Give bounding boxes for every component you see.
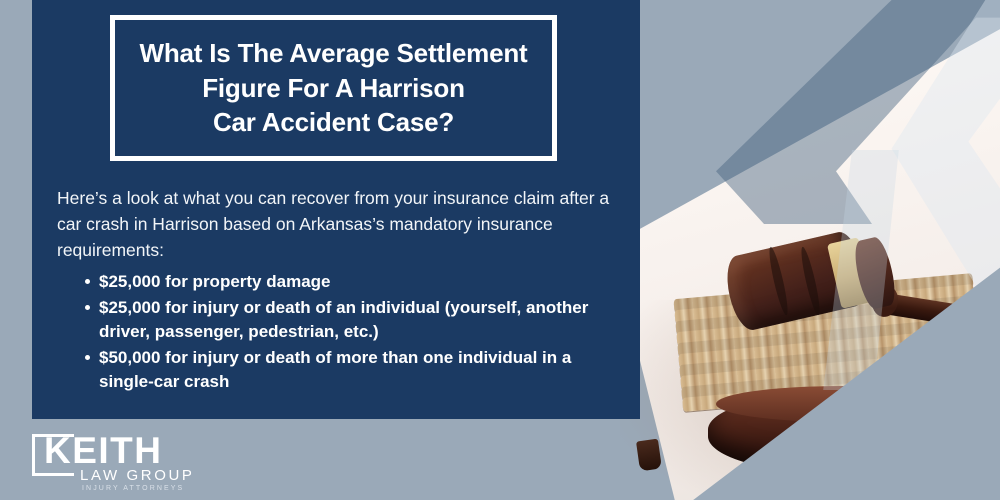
list-item: $25,000 for property damage — [87, 270, 619, 294]
keith-law-group-logo: KEITH LAW GROUP INJURY ATTORNEYS — [30, 432, 210, 490]
gavel-money-photo — [620, 0, 1000, 500]
list-item: $25,000 for injury or death of an indivi… — [87, 296, 619, 344]
title-line-2: Figure For A Harrison — [202, 71, 465, 106]
stand-leg — [636, 439, 662, 472]
navy-content-panel: What Is The Average Settlement Figure Fo… — [32, 0, 640, 419]
list-item-label: $50,000 for injury or death of more than… — [99, 348, 571, 391]
logo-subtitle: LAW GROUP — [80, 468, 195, 483]
coverage-list: $25,000 for property damage $25,000 for … — [57, 270, 627, 395]
list-item: $50,000 for injury or death of more than… — [87, 346, 619, 394]
page-title: What Is The Average Settlement Figure Fo… — [127, 31, 540, 145]
list-item-label: $25,000 for injury or death of an indivi… — [99, 298, 588, 341]
body-copy: Here’s a look at what you can recover fr… — [57, 186, 627, 396]
infographic-canvas: What Is The Average Settlement Figure Fo… — [0, 0, 1000, 500]
title-frame: What Is The Average Settlement Figure Fo… — [110, 15, 557, 161]
title-line-1: What Is The Average Settlement — [140, 36, 528, 71]
logo-tagline: INJURY ATTORNEYS — [82, 485, 184, 492]
bullet-dot-icon — [85, 279, 90, 284]
logo-name: KEITH — [44, 432, 163, 469]
title-line-3: Car Accident Case? — [213, 105, 454, 140]
list-item-label: $25,000 for property damage — [99, 272, 330, 291]
bullet-dot-icon — [85, 355, 90, 360]
intro-paragraph: Here’s a look at what you can recover fr… — [57, 186, 617, 264]
bullet-dot-icon — [85, 305, 90, 310]
